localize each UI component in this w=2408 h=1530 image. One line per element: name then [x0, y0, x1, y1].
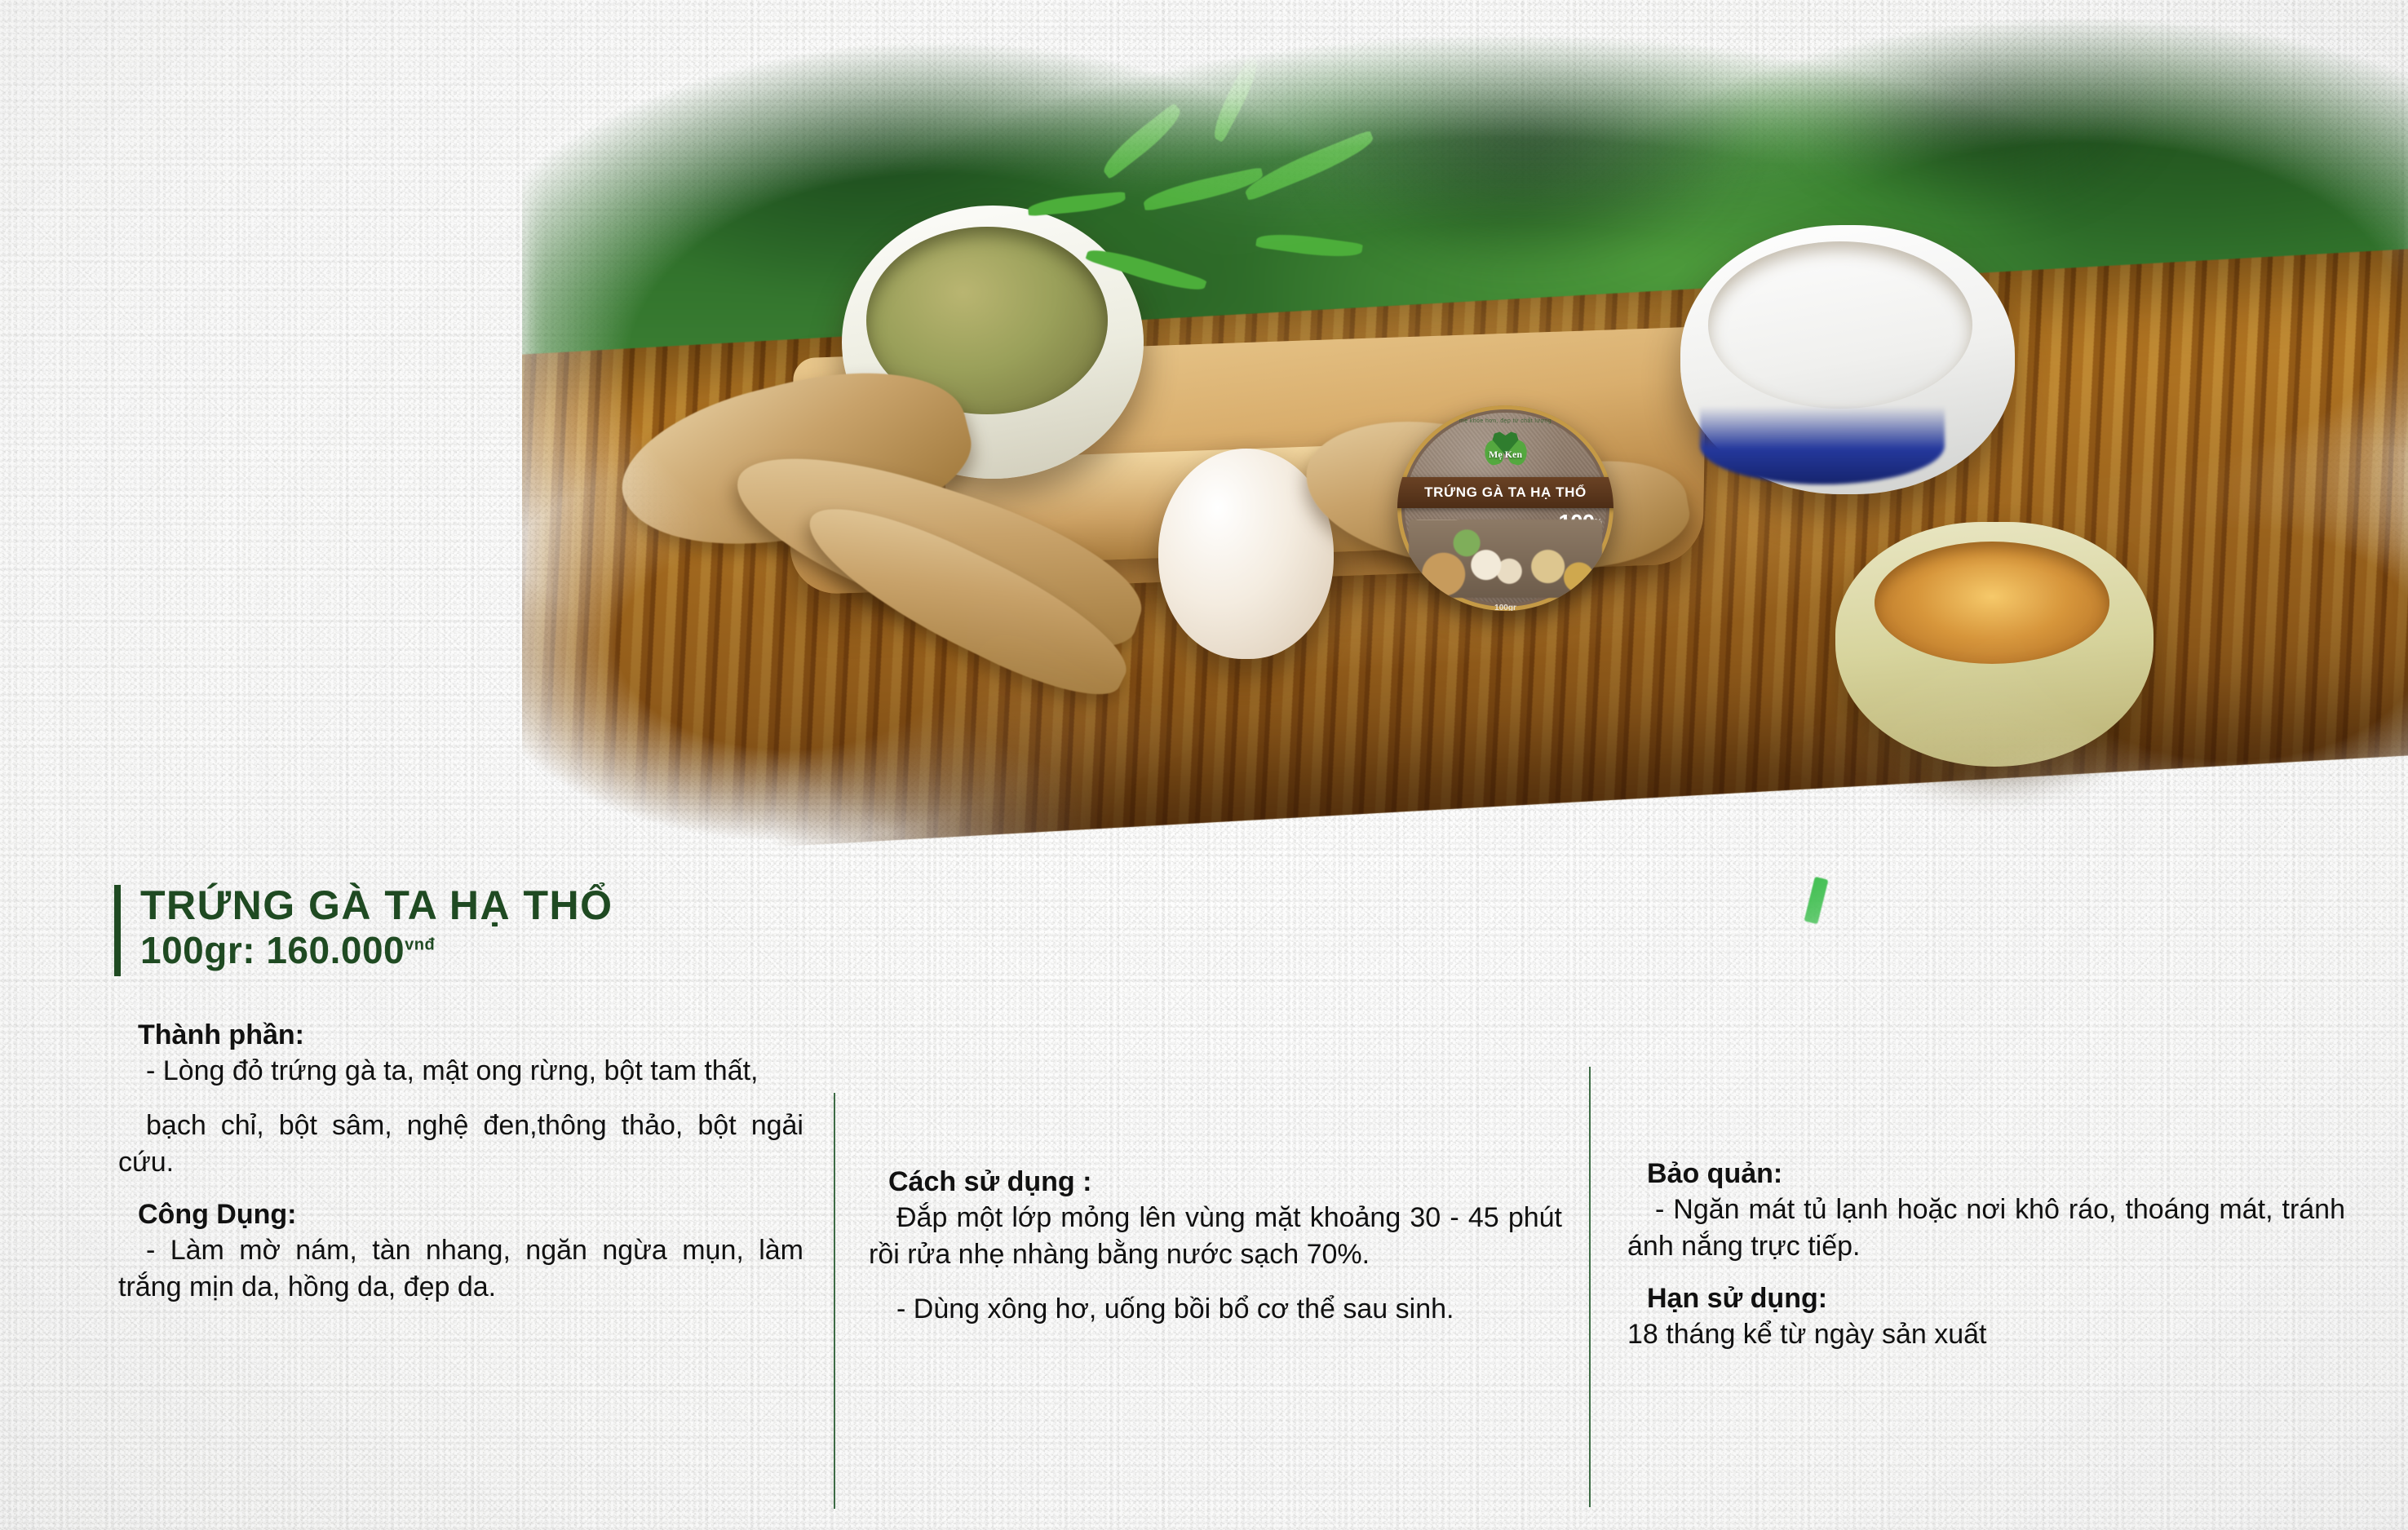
- section-body-storage: - Ngăn mát tủ lạnh hoặc nơi khô ráo, tho…: [1627, 1192, 2345, 1265]
- price-currency: vnđ: [405, 936, 435, 954]
- column-divider-1: [834, 1093, 835, 1509]
- section-body-usage-2: - Dùng xông hơ, uống bồi bổ cơ thể sau s…: [869, 1291, 1562, 1328]
- info-columns: Thành phần: - Lòng đỏ trứng gà ta, mật o…: [0, 1019, 2408, 1509]
- jar-product-name: TRỨNG GÀ TA HẠ THỔ: [1424, 484, 1587, 501]
- jar-brand-name: Mẹ Ken: [1485, 449, 1527, 461]
- section-body-usage-1: Đắp một lớp mỏng lên vùng mặt khoảng 30 …: [869, 1200, 1562, 1273]
- jar-tagline: mẹ khỏe hơn, đẹp từ chất lượng: [1397, 418, 1613, 424]
- column-divider-2: [1589, 1067, 1591, 1507]
- title-text-group: TRỨNG GÀ TA HẠ THỔ 100gr: 160.000vnđ: [140, 885, 613, 970]
- product-title-block: TRỨNG GÀ TA HẠ THỔ 100gr: 160.000vnđ: [114, 885, 613, 976]
- product-jar-label: mẹ khỏe hơn, đẹp từ chất lượng Mẹ Ken TR…: [1397, 405, 1613, 611]
- section-body-benefits: - Làm mờ nám, tàn nhang, ngăn ngừa mụn, …: [118, 1232, 803, 1306]
- info-column-usage: Cách sử dụng : Đắp một lớp mỏng lên vùng…: [869, 1166, 1562, 1346]
- section-body-ingredients-1: - Lòng đỏ trứng gà ta, mật ong rừng, bột…: [118, 1053, 803, 1090]
- jar-name-band: TRỨNG GÀ TA HẠ THỔ: [1397, 477, 1613, 508]
- honey-bowl: [1835, 522, 2153, 767]
- powder-bowl-blue-white: [1680, 225, 2015, 494]
- section-heading-usage: Cách sử dụng :: [869, 1166, 1562, 1198]
- green-accent-stick-icon: [1804, 877, 1828, 924]
- title-accent-bar: [114, 885, 121, 976]
- price-label: 100gr: 160.000vnđ: [140, 931, 613, 970]
- section-heading-benefits: Công Dụng:: [118, 1199, 803, 1231]
- jar-ingredient-photo: [1409, 520, 1602, 598]
- hands-heart-icon: Mẹ Ken: [1485, 426, 1527, 465]
- section-body-ingredients-2: bạch chỉ, bột sâm, nghệ đen,thông thảo, …: [118, 1108, 803, 1181]
- section-heading-expiry: Hạn sử dụng:: [1627, 1283, 2345, 1315]
- jar-weight-label: 100gr: [1397, 604, 1613, 611]
- jar-logo: mẹ khỏe hơn, đẹp từ chất lượng Mẹ Ken: [1397, 418, 1613, 465]
- section-heading-ingredients: Thành phần:: [118, 1019, 803, 1051]
- info-column-ingredients: Thành phần: - Lòng đỏ trứng gà ta, mật o…: [118, 1019, 803, 1323]
- price-amount: 100gr: 160.000: [140, 929, 405, 971]
- section-body-expiry: 18 tháng kể từ ngày sản xuất: [1627, 1316, 2345, 1353]
- info-column-storage: Bảo quản: - Ngăn mát tủ lạnh hoặc nơi kh…: [1627, 1158, 2345, 1371]
- section-heading-storage: Bảo quản:: [1627, 1158, 2345, 1190]
- page-title: TRỨNG GÀ TA HẠ THỔ: [140, 885, 613, 926]
